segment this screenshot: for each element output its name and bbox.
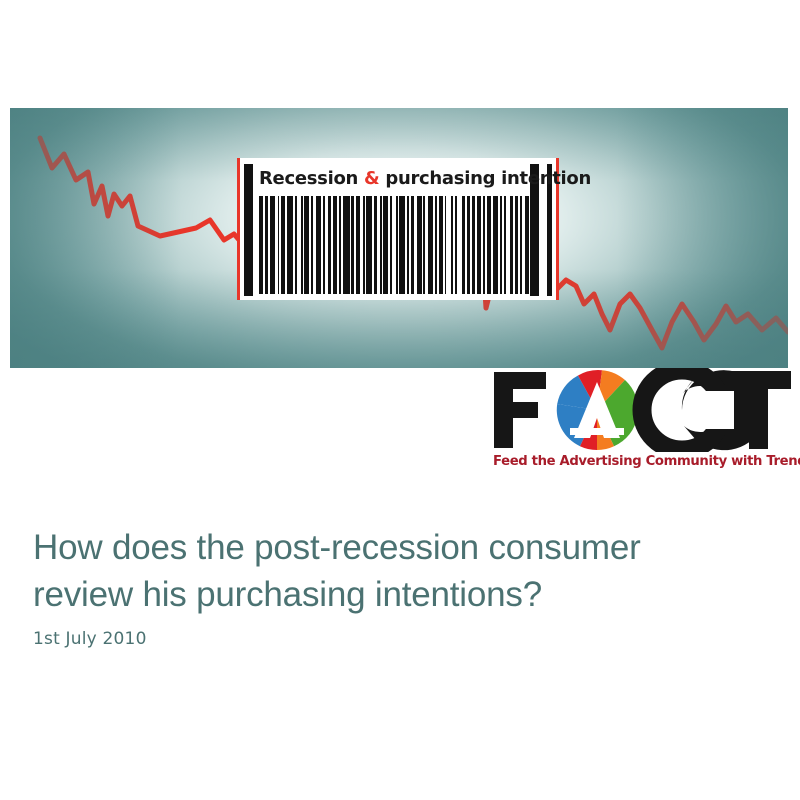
fact-logo-letters: [492, 368, 792, 452]
barcode-title-text: Recession & purchasing intention: [259, 166, 537, 192]
fact-logo-tagline: Feed the Advertising Community with Tren…: [493, 454, 793, 469]
page-title-line-2: review his purchasing intentions?: [33, 571, 763, 618]
logo-letter-f: [494, 372, 546, 448]
barcode-title-part1: Recession: [259, 168, 364, 189]
barcode-title-part2: purchasing intention: [379, 168, 591, 189]
page-title: How does the post-recession consumer rev…: [33, 524, 763, 618]
barcode-graphic: Recession & purchasing intention: [237, 158, 559, 300]
page-title-line-1: How does the post-recession consumer: [33, 528, 641, 567]
barcode-left-red-edge: [237, 158, 240, 300]
publication-date: 1st July 2010: [33, 629, 147, 649]
title-slide: Recession & purchasing intention: [0, 0, 800, 800]
barcode-bars: [259, 196, 535, 294]
logo-letter-a-pie: [557, 370, 638, 450]
barcode-guard-bar-left: [244, 164, 253, 296]
barcode-title-ampersand: &: [364, 168, 379, 189]
pie-letter-a-crossbar-gap: [570, 428, 624, 435]
fact-logo: Feed the Advertising Community with Tren…: [492, 368, 792, 480]
barcode-bar: [533, 196, 535, 294]
